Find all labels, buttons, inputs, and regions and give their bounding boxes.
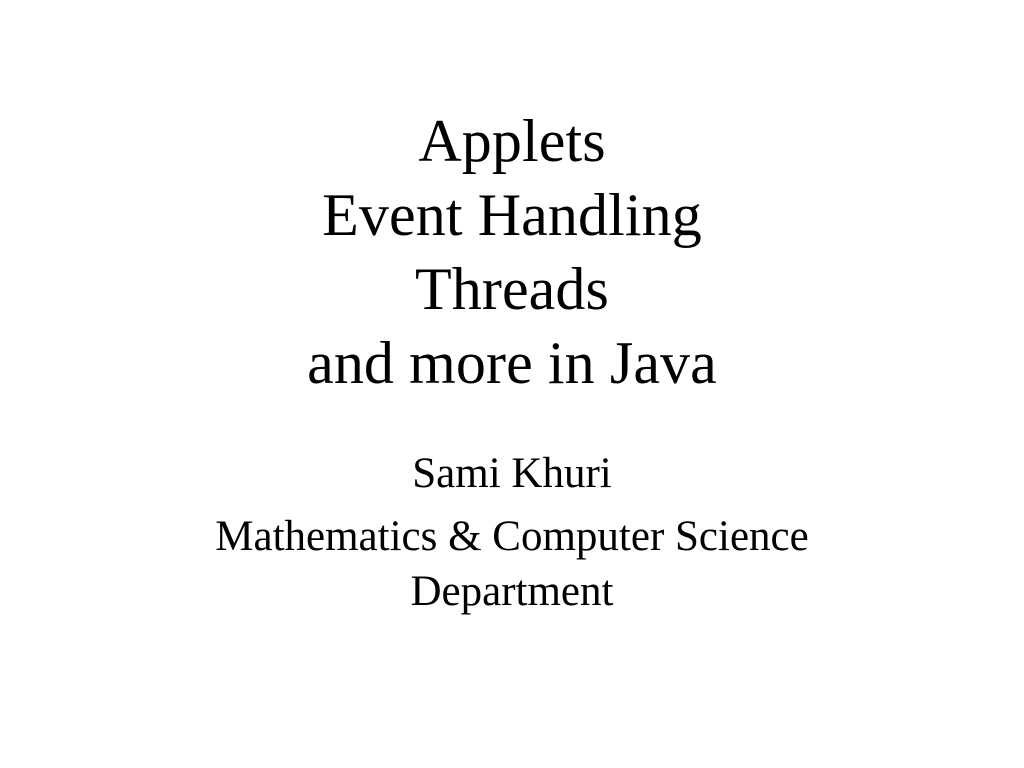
subtitle-author: Sami Khuri: [160, 446, 864, 501]
slide-title: Applets Event Handling Threads and more …: [62, 104, 962, 400]
slide-subtitle: Sami Khuri Mathematics & Computer Scienc…: [160, 446, 864, 619]
subtitle-affiliation: Mathematics & Computer Science Departmen…: [160, 509, 864, 619]
title-line-4: and more in Java: [62, 326, 962, 400]
title-line-1: Applets: [62, 104, 962, 178]
title-line-3: Threads: [62, 252, 962, 326]
title-line-2: Event Handling: [62, 178, 962, 252]
title-slide: Applets Event Handling Threads and more …: [0, 0, 1024, 768]
